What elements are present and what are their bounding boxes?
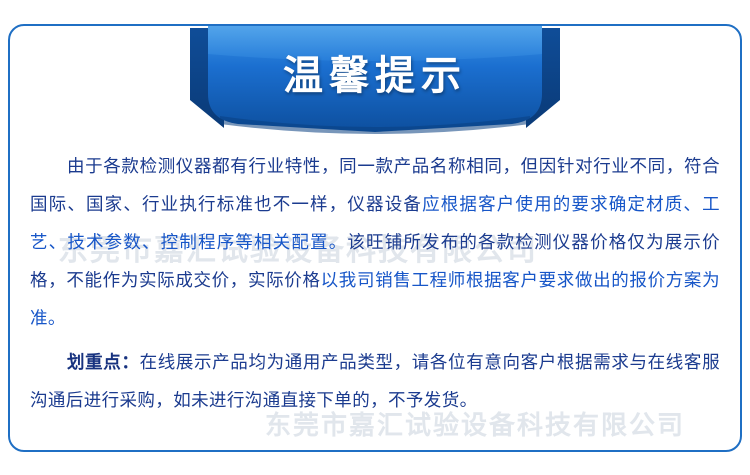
notice-paragraph-2: 划重点：在线展示产品均为通用产品类型，请各位有意向客户根据需求与在线客服沟通后进…	[30, 344, 720, 420]
notice-banner: 温馨提示	[190, 24, 560, 136]
notice-p2-keyword: 划重点：	[67, 353, 140, 373]
notice-page: 东莞市嘉汇试验设备科技有限公司 东莞市嘉汇试验设备科技有限公司	[0, 0, 750, 475]
notice-paragraph-1: 由于各款检测仪器都有行业特性，同一款产品名称相同，但因针对行业不同，符合国际、国…	[30, 148, 720, 338]
ribbon-shape	[190, 24, 560, 136]
notice-body: 由于各款检测仪器都有行业特性，同一款产品名称相同，但因针对行业不同，符合国际、国…	[30, 148, 720, 426]
